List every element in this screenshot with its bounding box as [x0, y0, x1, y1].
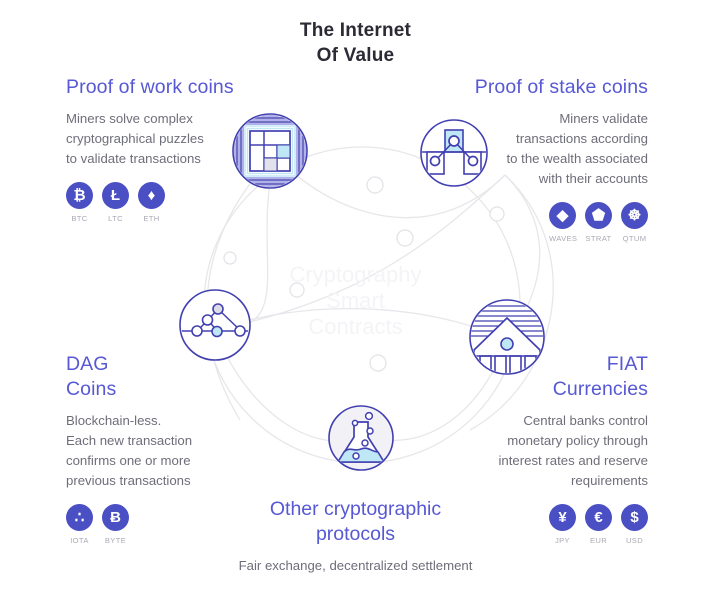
heading-line: protocols	[0, 522, 711, 547]
coin-badge-ltc[interactable]: Ł LTC	[102, 182, 129, 223]
body-line: Blockchain-less.	[66, 411, 256, 431]
litecoin-icon: Ł	[102, 182, 129, 209]
infographic-canvas: Cryptography Smart Contracts The Interne…	[0, 0, 711, 599]
body-line: confirms one or more	[66, 451, 256, 471]
heading-line: Coins	[66, 377, 256, 402]
coin-label: WAVES	[549, 234, 576, 243]
page-title-line-2: Of Value	[0, 43, 711, 68]
dag-body: Blockchain-less. Each new transaction co…	[66, 411, 256, 491]
proof-of-stake-coin-list: ◆ WAVES ⬟ STRAT ☸ QTUM	[438, 202, 648, 243]
coin-label: ETH	[138, 214, 165, 223]
mining-block-icon	[231, 112, 309, 190]
stake-network-icon	[419, 118, 489, 188]
watermark-line-1: Cryptography	[0, 262, 711, 288]
page-title: The Internet Of Value	[0, 18, 711, 68]
coin-label: BTC	[66, 214, 93, 223]
body-line: Each new transaction	[66, 431, 256, 451]
qtum-icon: ☸	[621, 202, 648, 229]
proof-of-stake-heading: Proof of stake coins	[438, 75, 648, 100]
heading-line: Other cryptographic	[0, 497, 711, 522]
coin-badge-waves[interactable]: ◆ WAVES	[549, 202, 576, 243]
coin-badge-qtum[interactable]: ☸ QTUM	[621, 202, 648, 243]
other-protocols-heading: Other cryptographic protocols	[0, 497, 711, 547]
body-line: requirements	[433, 471, 648, 491]
coin-label: STRAT	[585, 234, 612, 243]
waves-icon: ◆	[549, 202, 576, 229]
proof-of-work-heading: Proof of work coins	[66, 75, 266, 100]
fiat-body: Central banks control monetary policy th…	[433, 411, 648, 491]
background-watermark: Cryptography Smart Contracts	[0, 262, 711, 340]
coin-badge-strat[interactable]: ⬟ STRAT	[585, 202, 612, 243]
node-proof-of-stake[interactable]	[419, 118, 489, 193]
body-line: Central banks control	[433, 411, 648, 431]
node-mining-block[interactable]	[231, 112, 309, 195]
heading-line: Proof of work coins	[66, 75, 266, 100]
bitcoin-icon: ₿	[66, 182, 93, 209]
watermark-line-2: Smart	[0, 288, 711, 314]
coin-label: QTUM	[621, 234, 648, 243]
coin-badge-btc[interactable]: ₿ BTC	[66, 182, 93, 223]
body-line: interest rates and reserve	[433, 451, 648, 471]
body-line: previous transactions	[66, 471, 256, 491]
bank-building-icon	[468, 298, 546, 376]
node-other-protocols[interactable]	[327, 404, 395, 477]
watermark-line-3: Contracts	[0, 314, 711, 340]
node-fiat[interactable]	[468, 298, 546, 381]
coin-label: LTC	[102, 214, 129, 223]
heading-line: Proof of stake coins	[438, 75, 648, 100]
flask-icon	[327, 404, 395, 472]
body-line: monetary policy through	[433, 431, 648, 451]
stratis-icon: ⬟	[585, 202, 612, 229]
footer-caption: Fair exchange, decentralized settlement	[0, 556, 711, 576]
coin-badge-eth[interactable]: ♦ ETH	[138, 182, 165, 223]
dag-graph-icon	[178, 288, 252, 362]
ethereum-icon: ♦	[138, 182, 165, 209]
node-dag[interactable]	[178, 288, 252, 367]
page-title-line-1: The Internet	[0, 18, 711, 43]
